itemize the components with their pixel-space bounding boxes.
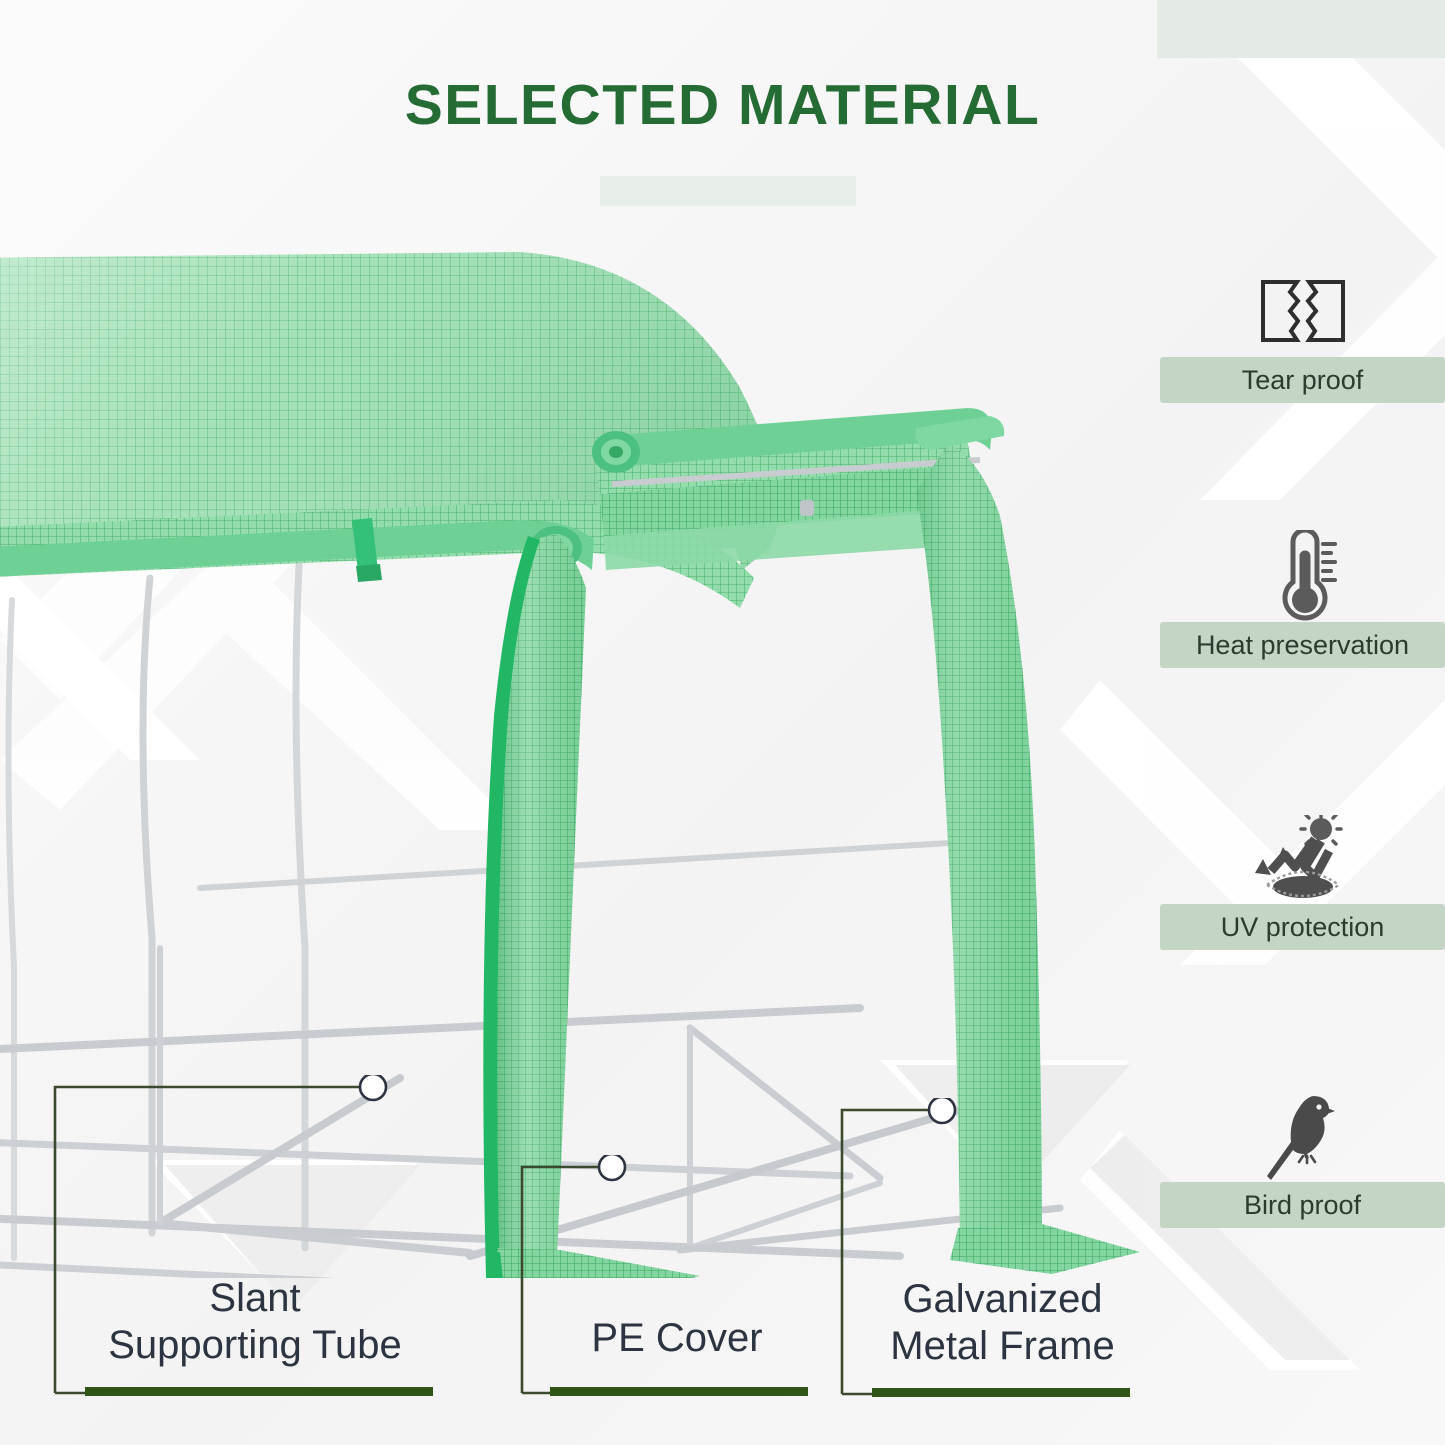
feature-tear-proof: Tear proof [1160,265,1445,403]
feature-label: UV protection [1160,904,1445,950]
uv-shield-icon [1160,812,1445,904]
page-title: SELECTED MATERIAL [0,72,1445,138]
corner-accent-bar [1157,0,1445,58]
subtitle-accent-bar [600,176,856,206]
feature-label: Tear proof [1160,357,1445,403]
feature-label: Bird proof [1160,1182,1445,1228]
feature-label: Heat preservation [1160,622,1445,668]
tear-icon [1160,265,1445,357]
callout-label: Galvanized Metal Frame [830,1276,1175,1370]
feature-bird-proof: Bird proof [1160,1090,1445,1228]
callout-label: Slant Supporting Tube [45,1275,465,1369]
feature-uv-protection: UV protection [1160,812,1445,950]
callout-slant-supporting-tube: Slant Supporting Tube [45,1075,465,1445]
feature-heat-preservation: Heat preservation [1160,530,1445,668]
callout-galvanized-metal-frame: Galvanized Metal Frame [830,1098,1175,1445]
callout-pe-cover: PE Cover [512,1155,842,1445]
callout-underline [872,1388,1130,1397]
callout-leader-line [512,1155,842,1445]
callout-underline [550,1387,808,1396]
callout-label: PE Cover [512,1315,842,1362]
bird-icon [1160,1090,1445,1182]
thermometer-icon [1160,530,1445,622]
infographic-canvas: SELECTED MATERIAL [0,0,1445,1445]
callout-underline [85,1387,433,1396]
